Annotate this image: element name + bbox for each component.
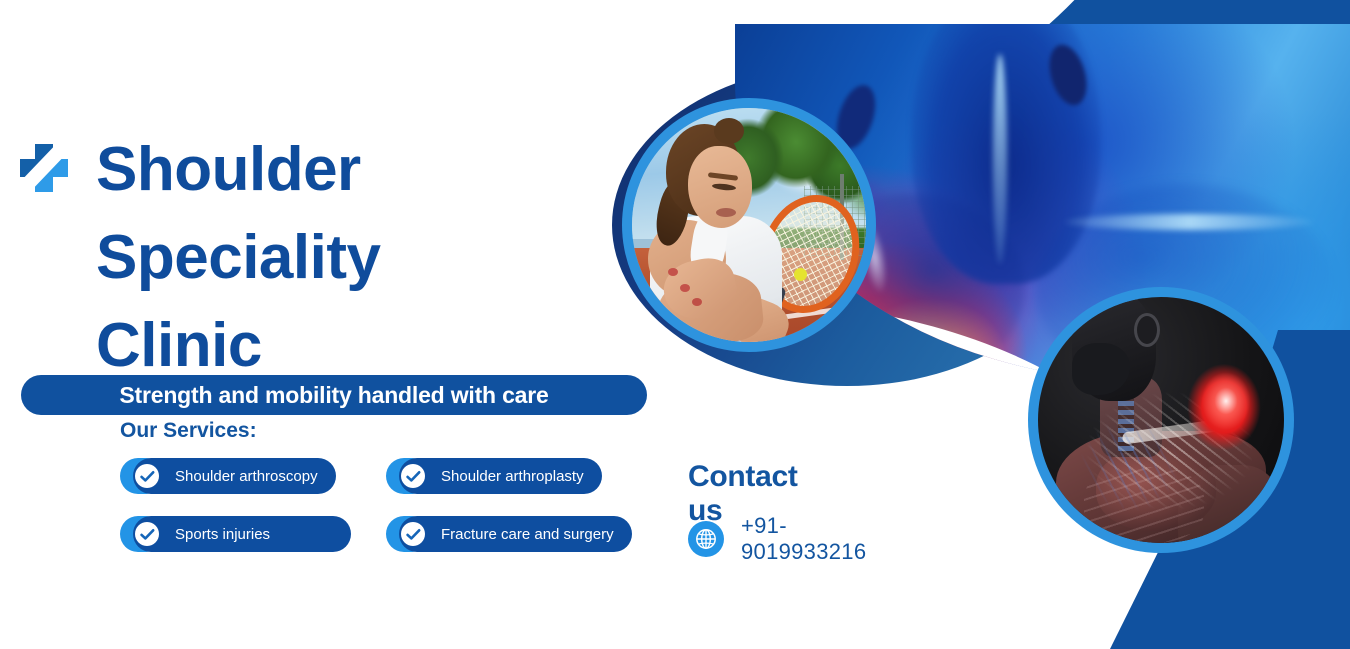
check-circle-icon — [401, 522, 425, 546]
globe-icon — [688, 521, 724, 557]
service-label: Fracture care and surgery — [441, 526, 614, 543]
service-label: Sports injuries — [175, 526, 270, 543]
player-hair-bun — [714, 118, 744, 144]
pill-body: Shoulder arthroscopy — [133, 458, 336, 494]
scan-ear — [1134, 313, 1160, 347]
medical-cross-icon — [18, 142, 70, 194]
check-circle-icon — [135, 464, 159, 488]
pill-body: Shoulder arthroplasty — [399, 458, 602, 494]
tagline-text: Strength and mobility handled with care — [119, 382, 548, 409]
check-circle-icon — [135, 522, 159, 546]
contact-phone-row[interactable]: +91-9019933216 — [688, 513, 866, 565]
title-line-1: Shoulder — [96, 126, 656, 214]
anatomy-shoulder-highlight — [1065, 214, 1315, 230]
service-label: Shoulder arthroplasty — [441, 468, 584, 485]
title-line-2: Speciality — [96, 214, 656, 302]
service-label: Shoulder arthroscopy — [175, 468, 318, 485]
page-title: Shoulder Speciality Clinic — [96, 126, 656, 390]
services-heading: Our Services: — [120, 419, 257, 443]
anatomy-spine-highlight — [993, 54, 1007, 264]
shoulder-anatomy-photo — [1038, 297, 1284, 543]
pill-body: Fracture care and surgery — [399, 516, 632, 552]
tagline-banner: Strength and mobility handled with care — [21, 375, 647, 415]
player-mouth — [716, 208, 736, 217]
phone-number[interactable]: +91-9019933216 — [741, 513, 866, 565]
content-column: Shoulder Speciality Clinic Strength and … — [0, 0, 700, 649]
pill-body: Sports injuries — [133, 516, 351, 552]
tennis-ball — [794, 268, 807, 281]
check-circle-icon — [401, 464, 425, 488]
scan-shoulder-pain-glow — [1174, 355, 1270, 463]
